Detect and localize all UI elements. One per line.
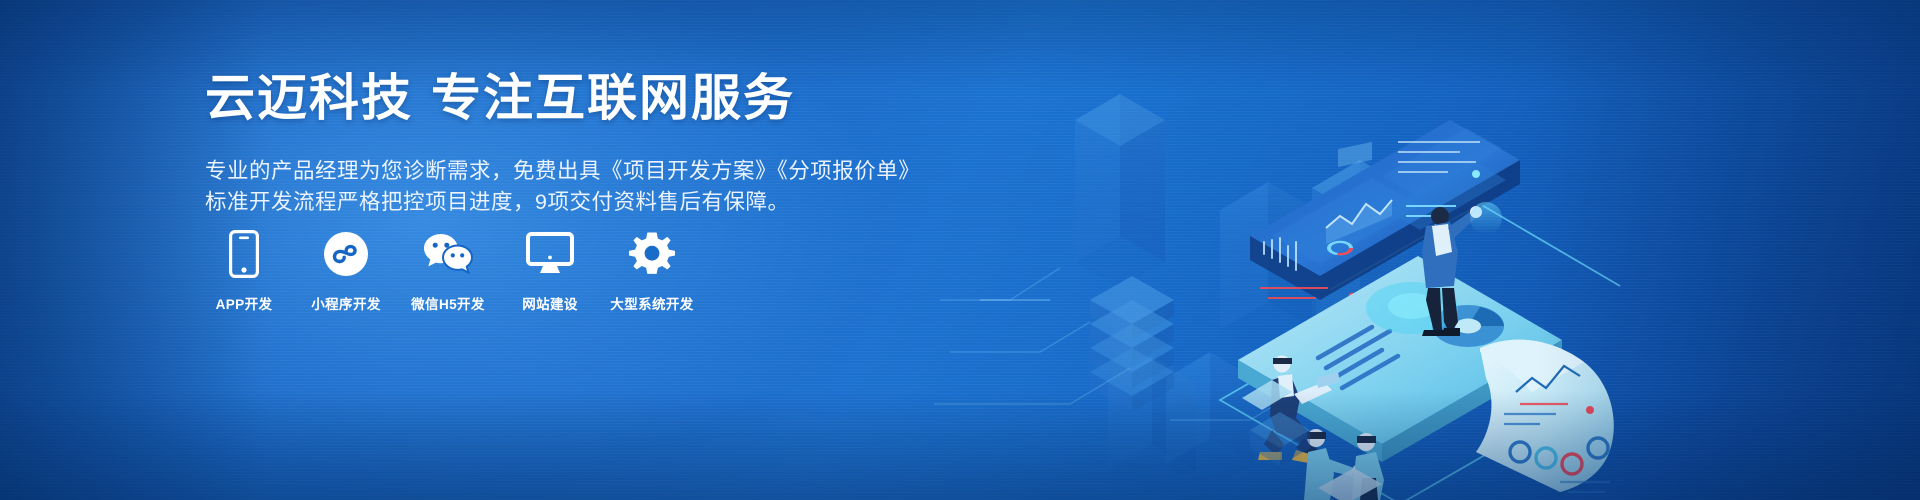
mobile-phone-icon: [229, 228, 259, 280]
service-icon-row: APP开发 小程序开发: [203, 228, 693, 313]
page-title: 云迈科技专注互联网服务: [205, 68, 905, 128]
service-label-wechat: 微信H5开发: [411, 293, 485, 313]
report-paper-strip: [1476, 340, 1614, 492]
gear-icon: [629, 228, 675, 280]
wechat-icon: [421, 228, 475, 280]
person-standing: [1422, 206, 1482, 336]
service-item-website[interactable]: 网站建设: [509, 228, 591, 313]
service-item-app[interactable]: APP开发: [203, 228, 285, 313]
subtitle-line-1: 专业的产品经理为您诊断需求，免费出具《项目开发方案》《分项报价单》: [205, 156, 905, 187]
service-label-website: 网站建设: [522, 293, 578, 313]
title-brand: 云迈科技: [205, 70, 413, 126]
small-device-panel: [1318, 468, 1382, 500]
person-sitting-laptop: [1258, 356, 1340, 465]
background-city-buildings: [934, 94, 1408, 496]
service-label-miniprogram: 小程序开发: [311, 293, 381, 313]
monitor-icon: [526, 228, 574, 280]
person-pair-front: [1304, 429, 1384, 500]
service-item-system[interactable]: 大型系统开发: [611, 228, 693, 313]
server-stack-icon: [1090, 276, 1174, 412]
mini-program-icon: [323, 228, 369, 280]
service-item-miniprogram[interactable]: 小程序开发: [305, 228, 387, 313]
hero-banner: 云迈科技专注互联网服务 专业的产品经理为您诊断需求，免费出具《项目开发方案》《分…: [0, 0, 1920, 500]
subtitle-block: 专业的产品经理为您诊断需求，免费出具《项目开发方案》《分项报价单》 标准开发流程…: [205, 156, 905, 218]
dashboard-screen: [1250, 120, 1520, 300]
service-label-system: 大型系统开发: [610, 293, 693, 313]
title-tagline: 专注互联网服务: [431, 70, 795, 126]
hero-copy-block: 云迈科技专注互联网服务 专业的产品经理为您诊断需求，免费出具《项目开发方案》《分…: [205, 68, 905, 218]
service-item-wechat[interactable]: 微信H5开发: [407, 228, 489, 313]
service-label-app: APP开发: [216, 293, 273, 313]
phone-device: [1242, 380, 1292, 410]
tablet-device: [1238, 256, 1562, 462]
floating-cube: [1250, 412, 1310, 466]
subtitle-line-2: 标准开发流程严格把控项目进度，9项交付资料售后有保障。: [205, 187, 905, 218]
platform-glow: [1366, 282, 1458, 334]
platform-outline: [1220, 204, 1620, 500]
isometric-tech-illustration: [920, 0, 1920, 500]
